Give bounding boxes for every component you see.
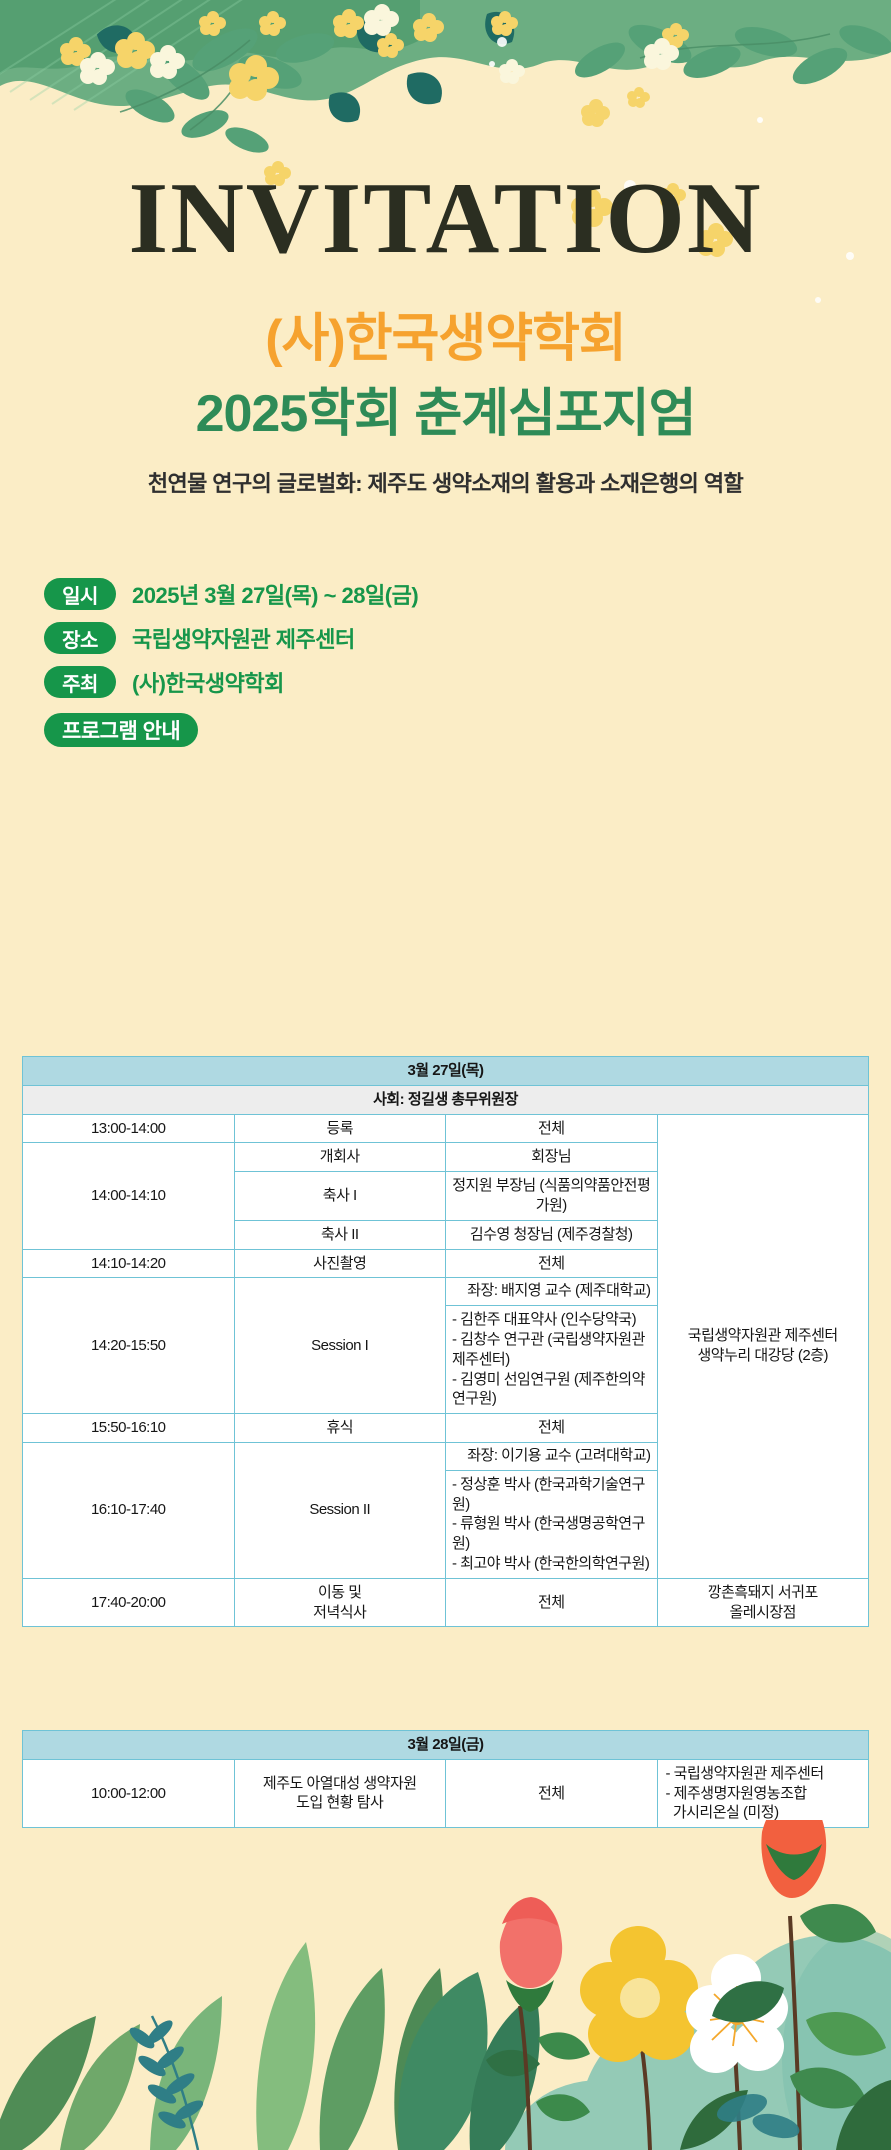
row-time: 14:00-14:10 (23, 1143, 235, 1249)
row-place-line-2: - 제주생명자원영농조합 (666, 1784, 863, 1804)
day1-venue-cell: 국립생약자원관 제주센터 생약누리 대강당 (2층) (657, 1114, 869, 1578)
table-row: 13:00-14:00 등록 전체 국립생약자원관 제주센터 생약누리 대강당 … (23, 1114, 869, 1143)
row-item: Session I (234, 1278, 446, 1414)
venue-line-2: 생약누리 대강당 (2층) (664, 1346, 863, 1366)
row-time: 16:10-17:40 (23, 1442, 235, 1578)
row-detail: 회장님 (446, 1143, 658, 1172)
row-place: 깡촌흑돼지 서귀포 올레시장점 (657, 1578, 869, 1627)
row-place-line-2: 올레시장점 (664, 1603, 863, 1623)
row-detail: 좌장: 이기용 교수 (고려대학교) - 정상훈 박사 (한국과학기술연구원) … (446, 1442, 658, 1578)
row-place-line-1: 깡촌흑돼지 서귀포 (664, 1583, 863, 1603)
session2-chair: 좌장: 이기용 교수 (고려대학교) (446, 1443, 657, 1471)
day1-schedule-table-wrapper: 3월 27일(목) 사회: 정길생 총무위원장 13:00-14:00 등록 전… (22, 1056, 869, 1627)
day2-header-row: 3월 28일(금) (23, 1731, 869, 1760)
day1-header: 3월 27일(목) (23, 1057, 869, 1086)
row-time: 14:10-14:20 (23, 1249, 235, 1278)
session1-speaker-2: - 김창수 연구관 (국립생약자원관 제주센터) (452, 1330, 651, 1370)
invitation-poster: INVITATION (사)한국생약학회 2025학회 춘계심포지엄 천연물 연… (0, 0, 891, 2150)
row-detail: 김수영 청장님 (제주경찰청) (446, 1220, 658, 1249)
day1-chair-note: 사회: 정길생 총무위원장 (23, 1085, 869, 1114)
session2-speaker-2: - 류형원 박사 (한국생명공학연구원) (452, 1514, 651, 1554)
day2-header: 3월 28일(금) (23, 1731, 869, 1760)
row-place-line-1: - 국립생약자원관 제주센터 (666, 1764, 863, 1784)
info-value-date: 2025년 3월 27일(목) ~ 28일(금) (132, 578, 418, 610)
row-time: 17:40-20:00 (23, 1578, 235, 1627)
row-place: - 국립생약자원관 제주센터 - 제주생명자원영농조합 가시리온실 (미정) (657, 1759, 869, 1827)
row-detail: 정지원 부장님 (식품의약품안전평가원) (446, 1172, 658, 1221)
symposium-name: 2025학회 춘계심포지엄 (0, 385, 891, 445)
table-row: 10:00-12:00 제주도 아열대성 생약자원 도입 현황 탐사 전체 - … (23, 1759, 869, 1827)
row-item: 개회사 (234, 1143, 446, 1172)
organization-name: (사)한국생약학회 (0, 310, 891, 370)
row-topic: 제주도 아열대성 생약자원 도입 현황 탐사 (234, 1759, 446, 1827)
coral-tulip-right (712, 1820, 886, 2150)
session2-speaker-3: - 최고야 박사 (한국한의학연구원) (452, 1554, 651, 1574)
row-time: 10:00-12:00 (23, 1759, 235, 1827)
row-detail: 전체 (446, 1249, 658, 1278)
table-row-dinner: 17:40-20:00 이동 및 저녁식사 전체 깡촌흑돼지 서귀포 올레시장점 (23, 1578, 869, 1627)
row-item: Session II (234, 1442, 446, 1578)
row-place-line-3: 가시리온실 (미정) (666, 1803, 863, 1823)
info-row-host: 주최 (사)한국생약학회 (44, 663, 744, 701)
row-time: 13:00-14:00 (23, 1114, 235, 1143)
row-participants: 전체 (446, 1759, 658, 1827)
row-detail: 전체 (446, 1114, 658, 1143)
coral-tulip-left (500, 1897, 590, 2150)
white-flower (686, 1954, 788, 2150)
row-item-line-1: 이동 및 (241, 1583, 440, 1603)
info-label-host: 주최 (44, 666, 116, 698)
day2-schedule-table: 3월 28일(금) 10:00-12:00 제주도 아열대성 생약자원 도입 현… (22, 1730, 869, 1828)
info-value-host: (사)한국생약학회 (132, 666, 284, 698)
info-label-venue: 장소 (44, 622, 116, 654)
day1-chair-row: 사회: 정길생 총무위원장 (23, 1085, 869, 1114)
event-info-block: 일시 2025년 3월 27일(목) ~ 28일(금) 장소 국립생약자원관 제… (44, 575, 744, 755)
row-time: 14:20-15:50 (23, 1278, 235, 1414)
day1-header-row: 3월 27일(목) (23, 1057, 869, 1086)
info-label-date: 일시 (44, 578, 116, 610)
row-item-line-2: 저녁식사 (241, 1603, 440, 1623)
row-item: 휴식 (234, 1414, 446, 1443)
program-guide-badge: 프로그램 안내 (44, 713, 198, 747)
info-row-date: 일시 2025년 3월 27일(목) ~ 28일(금) (44, 575, 744, 613)
day1-schedule-table: 3월 27일(목) 사회: 정길생 총무위원장 13:00-14:00 등록 전… (22, 1056, 869, 1627)
session1-chair: 좌장: 배지영 교수 (제주대학교) (446, 1278, 657, 1306)
row-item: 이동 및 저녁식사 (234, 1578, 446, 1627)
program-guide-row: 프로그램 안내 (44, 711, 744, 749)
bottom-garden-decoration (0, 1820, 891, 2150)
row-item: 축사 II (234, 1220, 446, 1249)
day2-schedule-table-wrapper: 3월 28일(금) 10:00-12:00 제주도 아열대성 생약자원 도입 현… (22, 1730, 869, 1828)
info-value-venue: 국립생약자원관 제주센터 (132, 622, 355, 654)
yellow-flower (580, 1926, 698, 2150)
row-topic-line-1: 제주도 아열대성 생약자원 (241, 1774, 440, 1794)
symposium-theme: 천연물 연구의 글로벌화: 제주도 생약소재의 활용과 소재은행의 역할 (0, 466, 891, 498)
session1-speaker-3: - 김영미 선임연구원 (제주한의약연구원) (452, 1370, 651, 1410)
row-time: 15:50-16:10 (23, 1414, 235, 1443)
row-item: 사진촬영 (234, 1249, 446, 1278)
info-row-venue: 장소 국립생약자원관 제주센터 (44, 619, 744, 657)
row-detail: 전체 (446, 1414, 658, 1443)
row-item: 등록 (234, 1114, 446, 1143)
row-detail: 좌장: 배지영 교수 (제주대학교) - 김한주 대표약사 (인수당약국) - … (446, 1278, 658, 1414)
row-detail: 전체 (446, 1578, 658, 1627)
session2-speaker-1: - 정상훈 박사 (한국과학기술연구원) (452, 1475, 651, 1515)
session1-speaker-1: - 김한주 대표약사 (인수당약국) (452, 1310, 651, 1330)
page-title: INVITATION (0, 168, 891, 270)
row-topic-line-2: 도입 현황 탐사 (241, 1793, 440, 1813)
row-item: 축사 I (234, 1172, 446, 1221)
venue-line-1: 국립생약자원관 제주센터 (664, 1326, 863, 1346)
